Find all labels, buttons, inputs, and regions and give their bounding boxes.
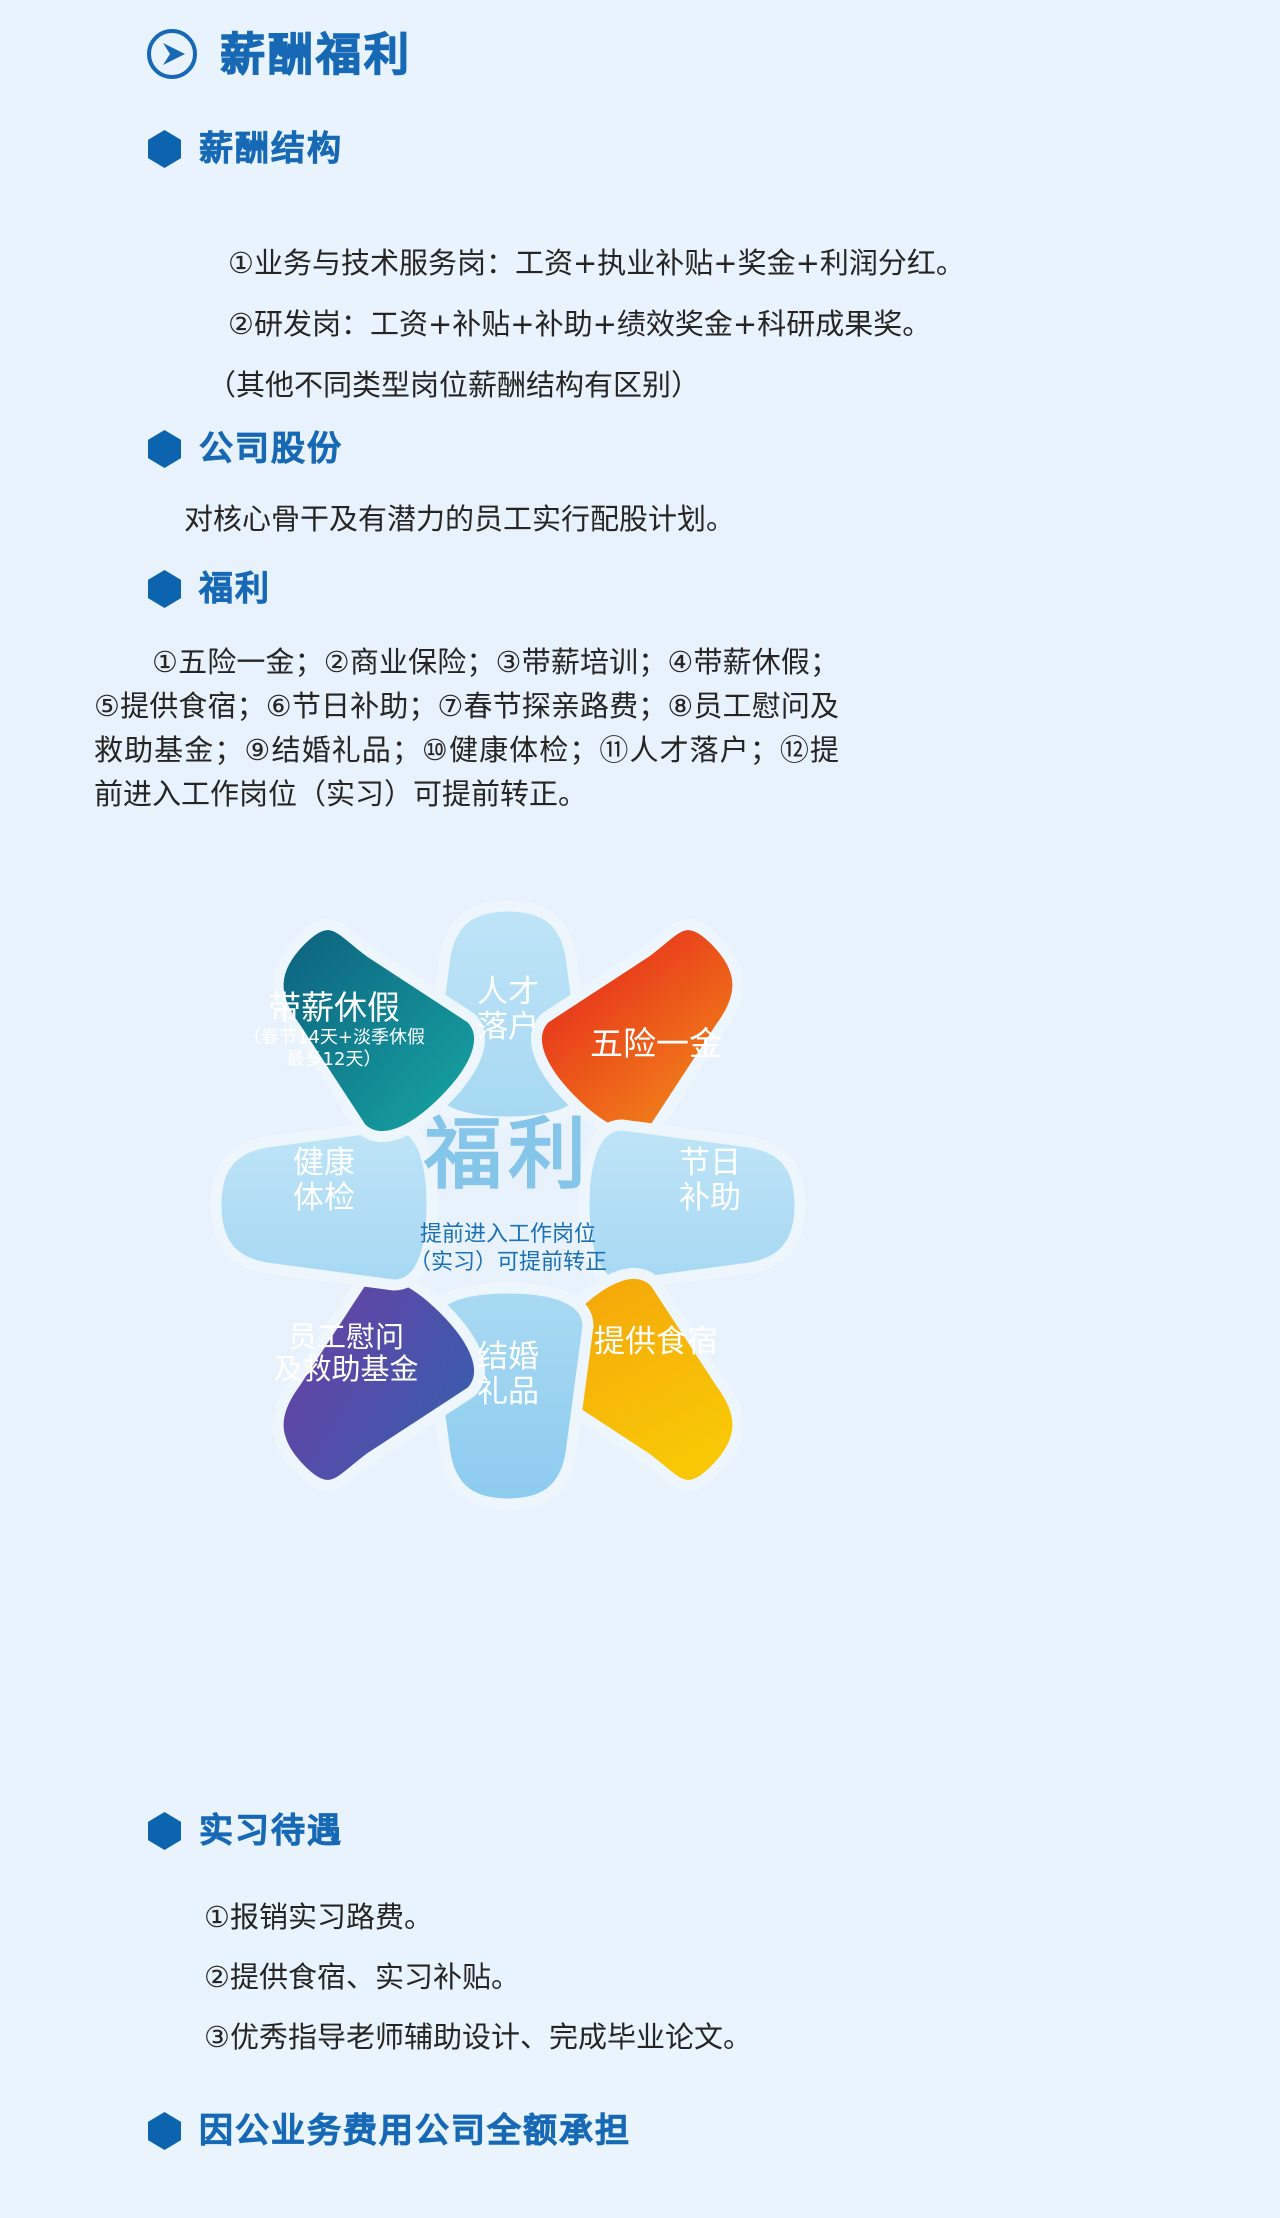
section-head-internship-treatment: 实习待遇 xyxy=(148,1812,343,1850)
diagram-center-sub-line-2: （实习）可提前转正 xyxy=(188,1249,828,1277)
benefits-flower-diagram: 人才 落户 五险一金 节日 补助 提供食宿 结婚 礼品 员工慰问 及救助基金 健… xyxy=(188,878,828,1533)
hexagon-bullet-icon xyxy=(148,2112,181,2150)
page-header: 薪酬福利 xyxy=(146,28,412,80)
company-shares-line-1: 对核心骨干及有潜力的员工实行配股计划。 xyxy=(184,500,735,538)
section-title-business-expense: 因公业务费用公司全额承担 xyxy=(199,2114,631,2148)
benefits-paragraph: ①五险一金；②商业保险；③带薪培训；④带薪休假；⑤提供食宿；⑥节日补助；⑦春节探… xyxy=(94,640,839,816)
circled-arrow-icon xyxy=(146,28,198,80)
salary-structure-line-3: （其他不同类型岗位薪酬结构有区别） xyxy=(207,366,700,404)
hexagon-bullet-icon xyxy=(148,430,181,468)
internship-line-1: ①报销实习路费。 xyxy=(204,1898,433,1936)
hexagon-bullet-icon xyxy=(148,1812,181,1850)
internship-line-3: ③优秀指导老师辅助设计、完成毕业论文。 xyxy=(204,2018,752,2056)
diagram-center-sub-line-1: 提前进入工作岗位 xyxy=(188,1221,828,1249)
section-head-salary-structure: 薪酬结构 xyxy=(148,130,343,168)
section-head-benefits: 福利 xyxy=(148,570,271,608)
section-head-company-shares: 公司股份 xyxy=(148,430,343,468)
diagram-center-title: 福利 xyxy=(188,1116,828,1194)
section-head-business-expense: 因公业务费用公司全额承担 xyxy=(148,2112,631,2150)
section-title-internship-treatment: 实习待遇 xyxy=(199,1814,343,1848)
section-title-salary-structure: 薪酬结构 xyxy=(199,132,343,166)
hexagon-bullet-icon xyxy=(148,130,181,168)
salary-structure-line-1: ①业务与技术服务岗：工资+执业补贴+奖金+利润分红。 xyxy=(228,244,965,282)
hexagon-bullet-icon xyxy=(148,570,181,608)
benefits-page: 薪酬福利 薪酬结构 ①业务与技术服务岗：工资+执业补贴+奖金+利润分红。 ②研发… xyxy=(0,0,1280,2218)
salary-structure-line-2: ②研发岗：工资+补贴+补助+绩效奖金+科研成果奖。 xyxy=(228,305,931,343)
section-title-benefits: 福利 xyxy=(199,572,271,606)
section-title-company-shares: 公司股份 xyxy=(199,432,343,466)
internship-line-2: ②提供食宿、实习补贴。 xyxy=(204,1958,520,1996)
page-title: 薪酬福利 xyxy=(220,32,412,77)
